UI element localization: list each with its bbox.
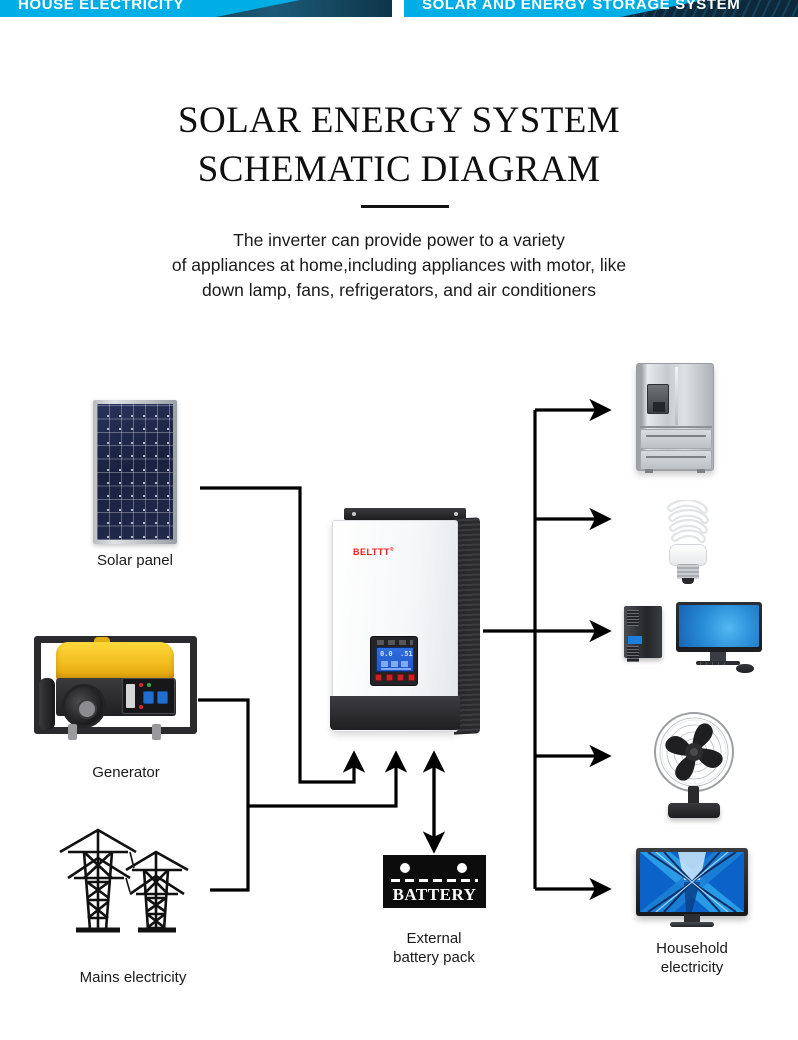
generator-muffler <box>39 678 55 730</box>
refrigerator-graphic <box>636 363 714 471</box>
generator-foot-right <box>152 724 161 740</box>
monitor-screen <box>679 605 759 647</box>
lcd-button-4[interactable] <box>408 674 415 681</box>
tv-screen-pattern <box>640 852 744 912</box>
refrigerator-door-split <box>675 367 678 425</box>
refrigerator-drawer-handle-top <box>646 435 706 437</box>
computer-monitor <box>676 602 762 652</box>
refrigerator-divider <box>640 426 712 428</box>
generator-socket-2 <box>157 691 168 704</box>
trademark-symbol: ® <box>390 547 394 553</box>
solar-cell-dots: (function(){ var host=document.currentSc… <box>97 404 173 540</box>
lcd-display[interactable]: 0.0 .51 <box>376 647 414 672</box>
lcd-button-2[interactable] <box>386 674 393 681</box>
tower-front-panel <box>628 636 642 644</box>
generator-engine <box>62 684 106 728</box>
household-label-line-1: Household <box>612 939 772 958</box>
fan-blades <box>654 712 734 792</box>
battery-terminal-negative <box>457 863 467 873</box>
battery-label: External battery pack <box>354 929 514 967</box>
tower-vent-bottom <box>627 646 639 662</box>
solar-panel-label: Solar panel <box>55 551 215 570</box>
tv-base <box>670 922 714 927</box>
generator-foot-left <box>68 724 77 740</box>
lcd-value-right: .51 <box>400 650 413 658</box>
tower-vent-top <box>627 610 639 626</box>
inverter-wall-bracket <box>344 508 466 520</box>
mains-label: Mains electricity <box>43 968 223 987</box>
battery-dashed-line <box>391 879 478 882</box>
computer-tower <box>624 606 662 658</box>
bulb-screw-base <box>677 564 699 579</box>
refrigerator-drawer-handle-bottom <box>646 456 706 458</box>
generator-label: Generator <box>46 763 206 782</box>
lcd-button-3[interactable] <box>397 674 404 681</box>
generator-graphic <box>34 628 199 746</box>
generator-indicator-green <box>147 683 151 687</box>
generator-control-panel <box>122 678 175 714</box>
computer-keyboard <box>658 662 728 673</box>
inverter-lcd-module: 0.0 .51 <box>370 636 418 686</box>
bulb-spiral-tube <box>659 500 717 548</box>
lcd-button-1[interactable] <box>375 674 382 681</box>
computer-mouse <box>736 664 754 673</box>
generator-breaker <box>139 705 143 709</box>
generator-gauge <box>126 684 135 708</box>
mains-electricity-graphic <box>38 822 218 940</box>
external-battery-graphic: BATTERY <box>383 855 486 908</box>
refrigerator-body <box>636 363 714 471</box>
refrigerator-drawer-bottom <box>640 450 712 470</box>
generator-frame-right <box>190 636 197 734</box>
refrigerator-foot-left <box>645 469 653 473</box>
generator-frame-bottom <box>34 727 197 734</box>
generator-socket-1 <box>143 691 154 704</box>
inverter-brand-logo: BELTTT® <box>353 547 394 557</box>
battery-label-line-1: External <box>354 929 514 948</box>
household-electricity-label: Household electricity <box>612 939 772 977</box>
solar-panel-graphic: (function(){ var host=document.currentSc… <box>93 400 177 544</box>
desktop-computer-graphic <box>624 602 764 674</box>
generator-fuel-tank <box>56 642 174 682</box>
battery-label-line-2: battery pack <box>354 948 514 967</box>
refrigerator-ice-dispenser <box>647 384 669 414</box>
lcd-status-leds <box>377 640 413 645</box>
battery-terminal-positive <box>400 863 410 873</box>
table-fan-graphic <box>648 712 740 822</box>
bulb-neck <box>669 544 707 566</box>
lcd-button-row[interactable] <box>375 674 415 682</box>
refrigerator-drawer-top <box>640 429 712 449</box>
fan-base <box>668 803 720 818</box>
inverter-base-panel <box>330 696 460 730</box>
television-graphic <box>636 848 748 930</box>
battery-word: BATTERY <box>383 885 486 905</box>
lcd-value-left: 0.0 <box>380 650 393 658</box>
generator-indicator-red <box>139 683 143 687</box>
refrigerator-foot-right <box>697 469 705 473</box>
inverter-graphic: BELTTT® 0.0 .51 <box>326 508 482 744</box>
bulb-contact-tip <box>682 578 694 584</box>
solar-panel-frame: (function(){ var host=document.currentSc… <box>93 400 177 544</box>
household-label-line-2: electricity <box>612 958 772 977</box>
cfl-bulb-graphic <box>655 500 721 586</box>
tv-bezel <box>636 848 748 916</box>
tv-screen <box>640 852 744 912</box>
inverter-brand-text: BELTTT <box>353 547 390 557</box>
